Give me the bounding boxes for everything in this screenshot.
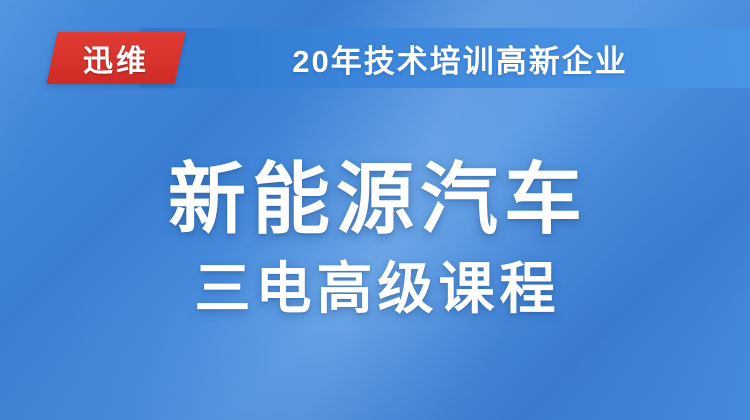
headline-block: 新能源汽车 三电高级课程 bbox=[0, 160, 750, 318]
headline-secondary: 三电高级课程 bbox=[0, 260, 750, 319]
headline-primary: 新能源汽车 bbox=[0, 160, 750, 240]
top-bar-title: 20年技术培训高新企业 bbox=[200, 28, 720, 88]
top-bar: 迅维 20年技术培训高新企业 bbox=[0, 28, 750, 88]
brand-logo-label: 迅维 bbox=[52, 32, 180, 84]
promo-banner: 迅维 20年技术培训高新企业 新能源汽车 三电高级课程 bbox=[0, 0, 750, 420]
